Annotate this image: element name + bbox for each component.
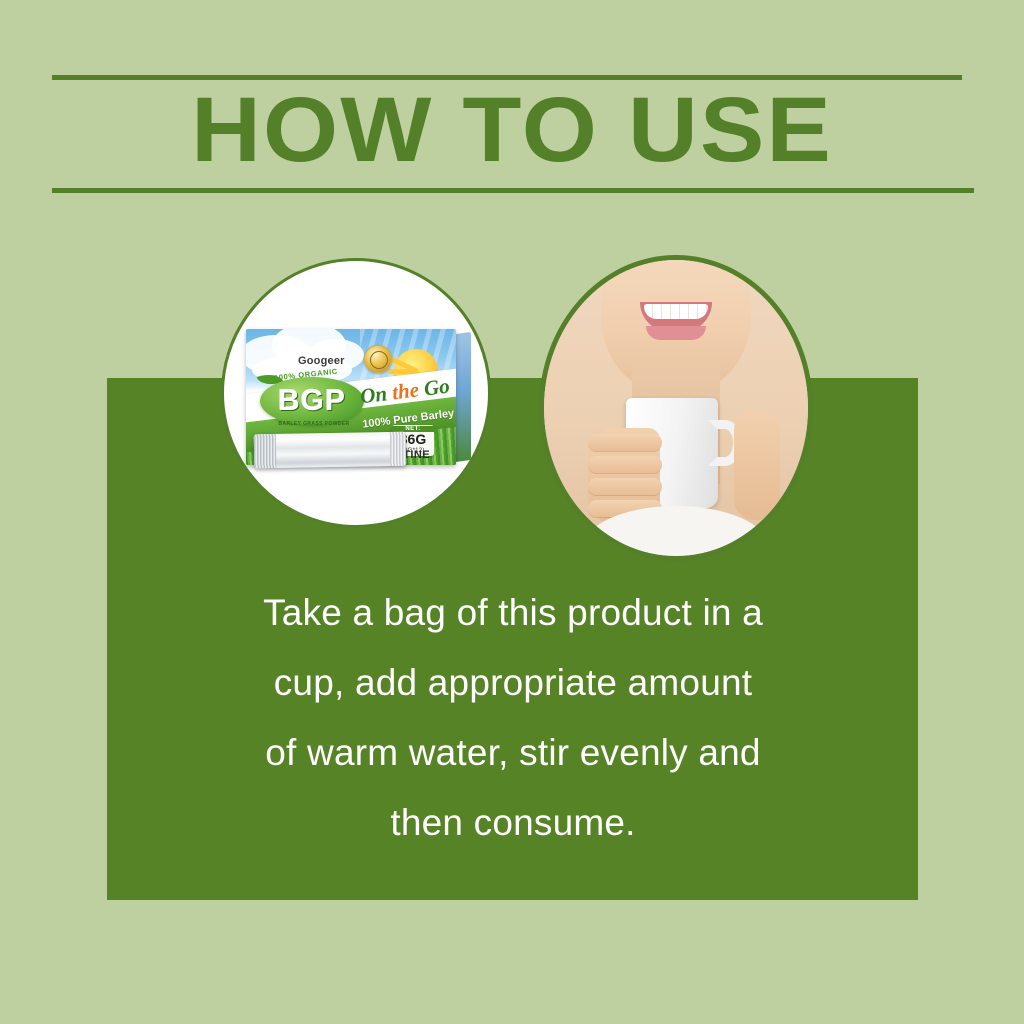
- lifestyle-image-circle: [539, 255, 813, 561]
- tagline-middle: the: [391, 377, 421, 404]
- tagline-suffix: Go: [423, 374, 451, 401]
- right-hand: [734, 410, 780, 520]
- title-rule-bottom: [52, 188, 974, 193]
- package-logo-text: BGP: [260, 381, 364, 421]
- package-brand-name: Googeer: [298, 355, 345, 367]
- teeth: [644, 304, 708, 319]
- product-image-circle: Googeer 100% ORGANIC BGP BARLEY GRASS PO…: [221, 258, 491, 528]
- infographic-canvas: HOW TO USE Take a bag of this product in…: [0, 0, 1024, 1024]
- lower-lip: [646, 326, 706, 340]
- package-logo-subtitle: BARLEY GRASS POWDER: [258, 421, 370, 427]
- instruction-text: Take a bag of this product in a cup, add…: [257, 578, 769, 858]
- quality-seal-icon: [364, 345, 392, 373]
- page-title: HOW TO USE: [0, 78, 1024, 182]
- package-side-panel: [455, 332, 471, 462]
- finger: [588, 434, 662, 451]
- finger: [588, 478, 662, 495]
- woman-drinking-illustration: [544, 260, 808, 556]
- finger: [588, 456, 662, 473]
- tagline-prefix: On: [359, 381, 389, 408]
- product-package-illustration: Googeer 100% ORGANIC BGP BARLEY GRASS PO…: [246, 329, 471, 465]
- product-sachet-stick-pack: [254, 432, 407, 469]
